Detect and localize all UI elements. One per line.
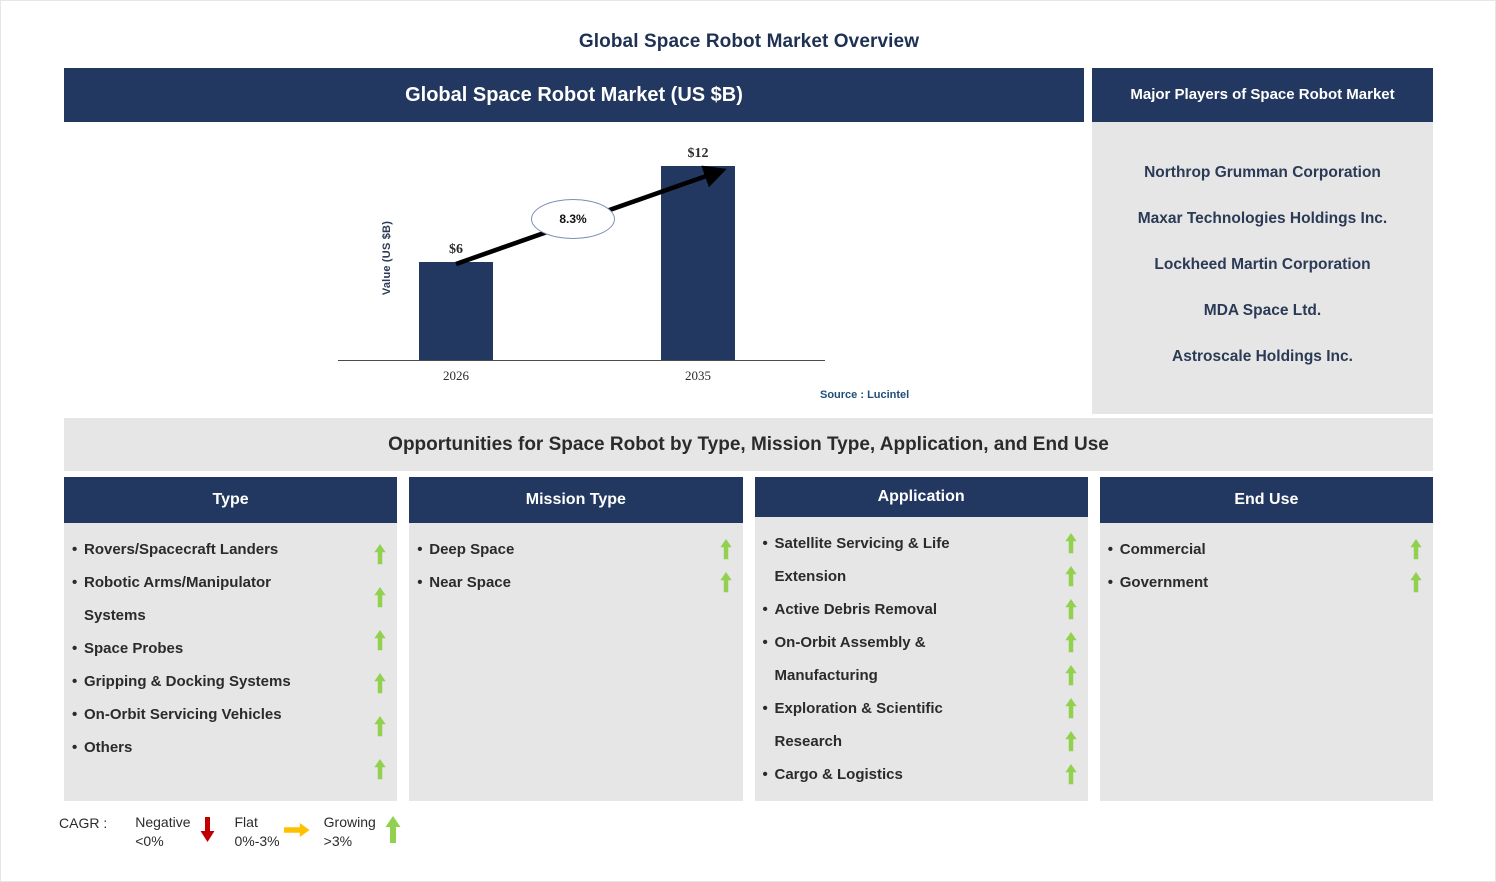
arrow-right-orange-icon <box>284 813 310 847</box>
arrow-up-green-icon <box>1409 539 1423 560</box>
arrow-down-red-icon <box>195 813 221 847</box>
arrow-up-green-icon <box>373 716 387 737</box>
trend-arrow-slot <box>1409 566 1423 599</box>
list-item: On-Orbit Assembly & Manufacturing <box>763 626 1082 692</box>
trend-arrow-slot <box>719 566 733 599</box>
chart-x-axis <box>338 360 825 361</box>
application-trend-arrows <box>1062 527 1080 791</box>
list-item: Rovers/Spacecraft Landers <box>72 533 391 566</box>
list-item: Near Space <box>417 566 736 599</box>
list-item: Robotic Arms/Manipulator Systems <box>72 566 391 632</box>
list-item: MDA Space Ltd. <box>1094 302 1431 320</box>
column-header-label: Type <box>213 491 249 509</box>
type-trend-arrows <box>371 533 389 791</box>
cagr-legend: CAGR : Negative <0% Flat 0%-3% <box>59 813 479 869</box>
chart-source-note: Source : Lucintel <box>820 389 909 401</box>
legend-item-growing: Growing >3% <box>324 813 410 851</box>
legend-label-bottom: >3% <box>324 832 376 851</box>
legend-label-bottom: <0% <box>135 832 190 851</box>
column-header-application: Application <box>755 477 1088 517</box>
arrow-up-green-icon <box>719 572 733 593</box>
list-item: Satellite Servicing & Life Extension <box>763 527 1082 593</box>
chart-banner: Global Space Robot Market (US $B) <box>64 68 1084 122</box>
arrow-up-green-icon <box>1064 599 1078 620</box>
column-body-end-use: Commercial Government <box>1100 523 1433 801</box>
market-overview-infographic: Global Space Robot Market Overview Globa… <box>0 0 1496 882</box>
list-item: Others <box>72 731 391 764</box>
end-use-trend-arrows <box>1407 533 1425 791</box>
arrow-up-green-icon <box>373 673 387 694</box>
trend-arrow-slot <box>1064 593 1078 626</box>
legend-label-bottom: 0%-3% <box>235 832 280 851</box>
column-type: Type Rovers/Spacecraft Landers Robotic A… <box>64 477 397 801</box>
cagr-bubble: 8.3% <box>531 199 615 239</box>
arrow-up-green-icon <box>1064 566 1078 587</box>
legend-item-flat: Flat 0%-3% <box>235 813 314 851</box>
list-item: On-Orbit Servicing Vehicles <box>72 698 391 731</box>
column-header-mission-type: Mission Type <box>409 477 742 523</box>
arrow-up-green-icon <box>373 544 387 565</box>
arrow-up-green-icon <box>1064 698 1078 719</box>
trend-arrow-slot <box>1409 533 1423 566</box>
arrow-up-green-icon <box>1064 632 1078 653</box>
arrow-up-green-icon <box>1409 572 1423 593</box>
end-use-item-list: Commercial Government <box>1106 533 1427 599</box>
type-item-list: Rovers/Spacecraft Landers Robotic Arms/M… <box>70 533 391 764</box>
chart-banner-title: Global Space Robot Market (US $B) <box>405 84 743 107</box>
list-item: Maxar Technologies Holdings Inc. <box>1094 210 1431 228</box>
column-header-label: Mission Type <box>526 491 626 509</box>
column-body-application: Satellite Servicing & Life Extension Act… <box>755 517 1088 801</box>
list-item: Gripping & Docking Systems <box>72 665 391 698</box>
bar-value-2035: $12 <box>661 146 735 162</box>
arrow-up-green-icon <box>719 539 733 560</box>
bar-value-2026: $6 <box>419 242 493 258</box>
mission-type-item-list: Deep Space Near Space <box>415 533 736 599</box>
column-header-label: End Use <box>1234 491 1298 509</box>
trend-arrow-slot <box>1064 659 1078 692</box>
list-item: Northrop Grumman Corporation <box>1094 164 1431 182</box>
list-item: Space Probes <box>72 632 391 665</box>
legend-label-top: Growing <box>324 813 376 832</box>
arrow-up-green-icon <box>373 587 387 608</box>
legend-item-negative: Negative <0% <box>135 813 224 851</box>
cagr-legend-title: CAGR : <box>59 813 107 831</box>
bar-2035 <box>661 166 735 360</box>
mission-type-trend-arrows <box>717 533 735 791</box>
column-header-type: Type <box>64 477 397 523</box>
trend-arrow-slot <box>1064 692 1078 725</box>
application-item-list: Satellite Servicing & Life Extension Act… <box>761 527 1082 791</box>
list-item: Commercial <box>1108 533 1427 566</box>
arrow-up-green-icon <box>1064 764 1078 785</box>
list-item: Active Debris Removal <box>763 593 1082 626</box>
arrow-up-green-icon <box>380 813 406 847</box>
column-mission-type: Mission Type Deep Space Near Space <box>409 477 742 801</box>
major-players-list: Northrop Grumman Corporation Maxar Techn… <box>1092 122 1433 414</box>
column-end-use: End Use Commercial Government <box>1100 477 1433 801</box>
legend-label-top: Negative <box>135 813 190 832</box>
x-tick-2026: 2026 <box>396 368 516 384</box>
x-tick-2035: 2035 <box>638 368 758 384</box>
trend-arrow-slot <box>1064 527 1078 560</box>
list-item: Exploration & Scientific Research <box>763 692 1082 758</box>
trend-arrow-slot <box>1064 725 1078 758</box>
list-item: Deep Space <box>417 533 736 566</box>
cagr-bubble-label: 8.3% <box>559 212 586 226</box>
arrow-up-green-icon <box>1064 533 1078 554</box>
legend-label-top: Flat <box>235 813 280 832</box>
list-item: Government <box>1108 566 1427 599</box>
column-body-type: Rovers/Spacecraft Landers Robotic Arms/M… <box>64 523 397 801</box>
list-item: Astroscale Holdings Inc. <box>1094 348 1431 366</box>
chart-y-axis-label: Value (US $B) <box>381 188 393 328</box>
list-item: Lockheed Martin Corporation <box>1094 256 1431 274</box>
trend-arrow-slot <box>1064 560 1078 593</box>
column-header-label: Application <box>878 488 965 506</box>
opportunities-title: Opportunities for Space Robot by Type, M… <box>388 434 1109 456</box>
arrow-up-green-icon <box>1064 731 1078 752</box>
trend-arrow-slot <box>1064 626 1078 659</box>
market-bar-chart: Value (US $B) $6 $12 2026 2035 8.3% Sour… <box>64 122 1084 414</box>
major-players-banner: Major Players of Space Robot Market <box>1092 68 1433 122</box>
trend-arrow-slot <box>719 533 733 566</box>
page-title: Global Space Robot Market Overview <box>1 31 1496 53</box>
arrow-up-green-icon <box>373 759 387 780</box>
cagr-trend-arrow-icon <box>64 122 1084 414</box>
column-body-mission-type: Deep Space Near Space <box>409 523 742 801</box>
opportunities-banner: Opportunities for Space Robot by Type, M… <box>64 418 1433 471</box>
major-players-title: Major Players of Space Robot Market <box>1130 86 1394 105</box>
column-header-end-use: End Use <box>1100 477 1433 523</box>
opportunity-columns: Type Rovers/Spacecraft Landers Robotic A… <box>64 477 1433 801</box>
bar-2026 <box>419 262 493 360</box>
arrow-up-green-icon <box>1064 665 1078 686</box>
list-item: Cargo & Logistics <box>763 758 1082 791</box>
arrow-up-green-icon <box>373 630 387 651</box>
column-application: Application Satellite Servicing & Life E… <box>755 477 1088 801</box>
trend-arrow-slot <box>1064 758 1078 791</box>
